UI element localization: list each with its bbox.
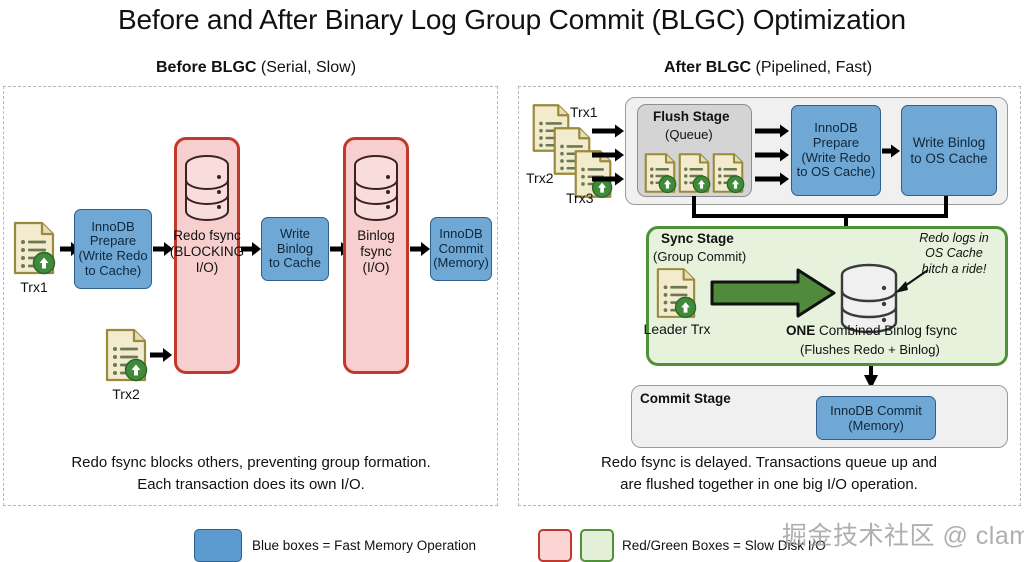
annotation-line-1: Redo logs in	[898, 231, 1010, 246]
trx2-label-right: Trx2	[526, 170, 572, 186]
right-caption-line2: are flushed together in one big I/O oper…	[523, 474, 1015, 496]
combined-fsync-label-bold: ONE	[786, 323, 815, 338]
trx1-label-right: Trx1	[570, 104, 614, 120]
left-panel-heading: Before BLGC (Serial, Slow)	[0, 59, 512, 77]
sync-stage-title: Sync Stage	[661, 231, 734, 246]
watermark: 掘金技术社区 @ clamlss	[782, 516, 1024, 552]
redo-fsync-database-icon	[183, 153, 231, 225]
commit-stage-title: Commit Stage	[640, 391, 731, 406]
page-title: Before and After Binary Log Group Commit…	[0, 4, 1024, 36]
legend-green-swatch	[580, 529, 614, 562]
arrow-flush-to-prepare-3	[755, 172, 789, 186]
flush-stage-title: Flush Stage	[653, 109, 730, 124]
combined-fsync-label: ONE Combined Binlog fsync	[786, 323, 957, 338]
queued-document-icon-2	[677, 152, 711, 194]
write-binlog-oscache-label: Write Binlog to OS Cache	[910, 135, 987, 165]
innodb-prepare-box: InnoDB Prepare (Write Redo to Cache)	[74, 209, 152, 289]
group-commit-green-arrow	[710, 268, 836, 318]
innodb-prepare-label: InnoDB Prepare (Write Redo to Cache)	[78, 220, 147, 278]
arrow-prepare-to-writebinlog-right	[882, 144, 900, 158]
binlog-fsync-database-icon	[352, 153, 400, 225]
arrow-redofsync-to-writebinlog	[241, 241, 261, 257]
left-panel-heading-rest: (Serial, Slow)	[256, 59, 356, 76]
combined-fsync-sublabel: (Flushes Redo + Binlog)	[800, 342, 940, 357]
legend-blue-swatch	[194, 529, 242, 562]
flush-stage-subtitle: (Queue)	[665, 127, 713, 142]
innodb-prepare-label-right: InnoDB Prepare (Write Redo to OS Cache)	[797, 121, 876, 179]
trx1-document-icon	[12, 220, 56, 276]
trx1-label: Trx1	[8, 279, 60, 295]
arrow-trx1-to-flush	[592, 124, 624, 138]
leader-trx-label: Leader Trx	[640, 321, 714, 337]
arrow-flush-to-prepare-1	[755, 124, 789, 138]
write-binlog-oscache-box: Write Binlog to OS Cache	[901, 105, 997, 196]
arrow-binlogfsync-to-commit	[410, 241, 430, 257]
legend-blue-text: Blue boxes = Fast Memory Operation	[252, 538, 476, 553]
write-binlog-cache-label: Write Binlog to Cache	[269, 227, 321, 271]
arrow-flush-to-prepare-2	[755, 148, 789, 162]
trx2-document-icon	[104, 327, 148, 383]
queued-document-icon-3	[711, 152, 745, 194]
arrow-trx2-to-flush	[592, 148, 624, 162]
innodb-commit-box-left: InnoDB Commit (Memory)	[430, 217, 492, 281]
leader-trx-document-icon	[655, 266, 697, 320]
innodb-commit-label-right-line1: InnoDB Commit	[830, 403, 922, 418]
write-binlog-cache-box: Write Binlog to Cache	[261, 217, 329, 281]
innodb-commit-label-right-line2: (Memory)	[848, 418, 904, 433]
diagram-canvas: Before and After Binary Log Group Commit…	[0, 0, 1024, 559]
right-panel-heading: After BLGC (Pipelined, Fast)	[512, 59, 1024, 77]
left-caption-line1: Redo fsync blocks others, preventing gro…	[8, 452, 494, 474]
before-blgc-panel	[3, 86, 498, 506]
right-caption-line1: Redo fsync is delayed. Transactions queu…	[523, 452, 1015, 474]
left-caption-line2: Each transaction does its own I/O.	[8, 474, 494, 496]
sync-stage-subtitle: (Group Commit)	[653, 249, 746, 264]
innodb-commit-label-left: InnoDB Commit (Memory)	[433, 227, 489, 271]
right-panel-heading-bold: After BLGC	[664, 59, 751, 76]
left-panel-heading-bold: Before BLGC	[156, 59, 256, 76]
binlog-fsync-label: Binlog fsync (I/O)	[340, 228, 412, 276]
trx2-label: Trx2	[100, 386, 152, 402]
arrow-trx2-to-redo-fsync	[150, 347, 172, 363]
left-panel-caption: Redo fsync blocks others, preventing gro…	[8, 452, 494, 496]
right-panel-caption: Redo fsync is delayed. Transactions queu…	[523, 452, 1015, 496]
annotation-pointer-arrow	[892, 268, 930, 294]
innodb-commit-box-right: InnoDB Commit (Memory)	[816, 396, 936, 440]
queued-document-icon-1	[643, 152, 677, 194]
trx3-label-right: Trx3	[566, 190, 614, 206]
arrow-trx3-to-flush	[592, 172, 624, 186]
legend-red-swatch	[538, 529, 572, 562]
combined-fsync-label-rest: Combined Binlog fsync	[815, 323, 957, 338]
redo-fsync-label: Redo fsync (BLOCKING I/O)	[167, 228, 247, 276]
annotation-line-2: OS Cache	[898, 246, 1010, 261]
innodb-prepare-box-right: InnoDB Prepare (Write Redo to OS Cache)	[791, 105, 881, 196]
right-panel-heading-rest: (Pipelined, Fast)	[751, 59, 872, 76]
